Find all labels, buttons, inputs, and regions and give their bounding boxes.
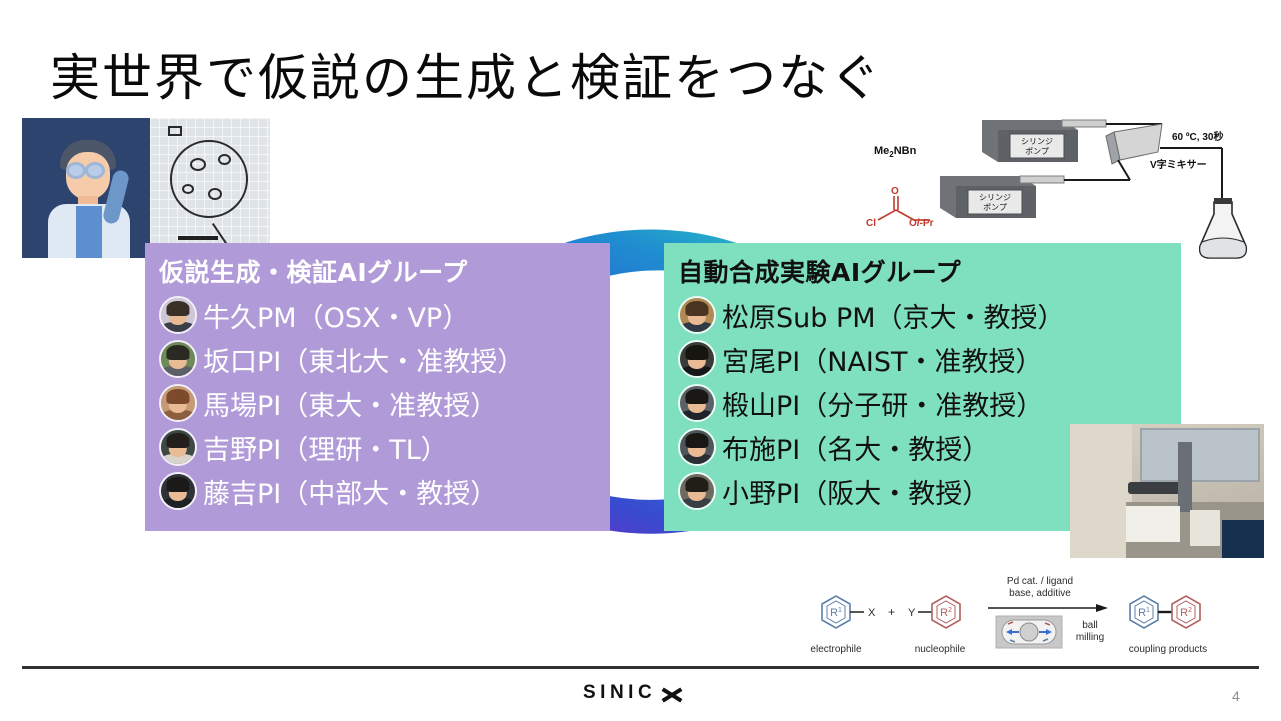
member-row: 松原Sub PM（京大・教授） <box>678 293 1167 337</box>
ball-milling-icon <box>996 616 1062 648</box>
svg-text:R2: R2 <box>1180 607 1192 619</box>
avatar <box>678 428 716 466</box>
syringe-pump-lower: シリンジ ポンプ <box>940 176 1130 218</box>
svg-text:Y: Y <box>908 607 916 619</box>
nucleophile-label: nucleophile <box>915 644 966 655</box>
photo-monitor <box>1222 520 1264 558</box>
svg-text:Cl: Cl <box>866 218 876 229</box>
svg-text:ポンプ: ポンプ <box>1025 147 1049 156</box>
electrophile-ring: R1 X <box>822 596 876 628</box>
member-name: 馬場PI（東大・准教授） <box>203 384 497 423</box>
member-name: 布施PI（名大・教授） <box>722 428 989 467</box>
avatar <box>678 296 716 334</box>
product-rings: R1 R2 <box>1130 596 1200 628</box>
member-row: 牛久PM（OSX・VP） <box>159 293 596 337</box>
avatar <box>159 296 197 334</box>
page-number: 4 <box>1232 688 1240 704</box>
molecule-dot-3 <box>182 184 194 194</box>
svg-text:X: X <box>868 607 876 619</box>
erlenmeyer-flask <box>1200 198 1247 258</box>
condition-line-1: Pd cat. / ligand <box>1007 576 1073 587</box>
svg-text:Oi-Pr: Oi-Pr <box>909 218 934 229</box>
svg-text:シリンジ: シリンジ <box>979 193 1011 202</box>
ball-milling-line-1: ball <box>1082 620 1098 631</box>
avatar <box>159 340 197 378</box>
reagent-structure <box>878 196 930 220</box>
condition-line-2: base, additive <box>1009 588 1071 599</box>
photo-robot-arm <box>1178 442 1192 512</box>
member-row: 藤吉PI（中部大・教授） <box>159 469 596 513</box>
svg-text:R1: R1 <box>830 607 842 619</box>
plus-sign: + <box>888 605 895 619</box>
avatar <box>678 340 716 378</box>
member-list-hypothesis: 牛久PM（OSX・VP） 坂口PI（東北大・准教授） 馬場PI（東大・准教授） <box>159 293 596 513</box>
goggle-right-icon <box>85 162 105 179</box>
member-name: 坂口PI（東北大・准教授） <box>203 340 524 379</box>
svg-text:O: O <box>891 186 899 197</box>
group-box-hypothesis: 仮説生成・検証AIグループ 牛久PM（OSX・VP） 坂口PI（東北大・准教授） <box>145 243 610 531</box>
molecule-dot-4 <box>208 188 222 200</box>
reagent-top-label: Me2NBn <box>874 145 917 159</box>
whiteboard-square-sketch <box>168 126 182 136</box>
cycle-top-label: 仮説 <box>606 147 660 184</box>
footer-divider <box>22 666 1259 669</box>
photo-window <box>1140 428 1260 482</box>
member-name: 藤吉PI（中部大・教授） <box>203 472 497 511</box>
member-name: 牛久PM（OSX・VP） <box>203 296 469 335</box>
scientist-illustration <box>22 118 270 258</box>
page-title: 実世界で仮説の生成と検証をつなぐ <box>50 38 882 110</box>
cycle-bottom-label: 結果 <box>606 582 660 619</box>
group-title-hypothesis: 仮説生成・検証AIグループ <box>159 253 596 289</box>
mixer-label: V字ミキサー <box>1150 158 1207 171</box>
member-name: 松原Sub PM（京大・教授） <box>722 296 1065 335</box>
member-name: 椴山PI（分子研・准教授） <box>722 384 1043 423</box>
svg-text:ポンプ: ポンプ <box>983 203 1007 212</box>
photo-instrument-1 <box>1126 506 1180 542</box>
member-name: 吉野PI（理研・TL） <box>203 428 448 467</box>
scientist-shirt <box>76 206 102 258</box>
member-name: 小野PI（阪大・教授） <box>722 472 989 511</box>
sinicx-logo: SINIC <box>583 682 681 704</box>
electrophile-label: electrophile <box>810 644 862 655</box>
member-row: 宮尾PI（NAIST・准教授） <box>678 337 1167 381</box>
logo-text: SINIC <box>583 682 656 704</box>
member-row: 吉野PI（理研・TL） <box>159 425 596 469</box>
slide-root: 実世界で仮説の生成と検証をつなぐ <box>0 0 1281 721</box>
member-name: 宮尾PI（NAIST・准教授） <box>722 340 1043 379</box>
avatar <box>159 384 197 422</box>
photo-instrument-2 <box>1190 510 1220 546</box>
molecule-dot-2 <box>218 154 231 165</box>
avatar <box>678 472 716 510</box>
avatar <box>159 428 197 466</box>
coupling-reaction-scheme: R1 X + Y R2 Pd cat. / ligand base, addit… <box>800 562 1240 658</box>
avatar <box>678 384 716 422</box>
avatar <box>159 472 197 510</box>
member-row: 馬場PI（東大・准教授） <box>159 381 596 425</box>
lab-automation-photo <box>1070 424 1264 558</box>
ball-milling-line-2: milling <box>1076 632 1104 643</box>
x-mark-icon <box>661 684 681 702</box>
svg-text:R1: R1 <box>1138 607 1150 619</box>
molecule-dot-1 <box>190 158 206 171</box>
svg-text:シリンジ: シリンジ <box>1021 137 1053 146</box>
member-row: 椴山PI（分子研・准教授） <box>678 381 1167 425</box>
goggle-left-icon <box>66 162 86 179</box>
photo-wall <box>1070 424 1132 558</box>
svg-text:R2: R2 <box>940 607 952 619</box>
whiteboard-underline <box>178 236 218 240</box>
condition-label: 60 ºC, 30秒 <box>1172 130 1223 143</box>
syringe-pump-apparatus-diagram: シリンジ ポンプ シリンジ ポンプ <box>862 118 1274 263</box>
nucleophile-ring: Y R2 <box>908 596 960 628</box>
member-row: 坂口PI（東北大・准教授） <box>159 337 596 381</box>
coupling-products-label: coupling products <box>1129 644 1207 655</box>
